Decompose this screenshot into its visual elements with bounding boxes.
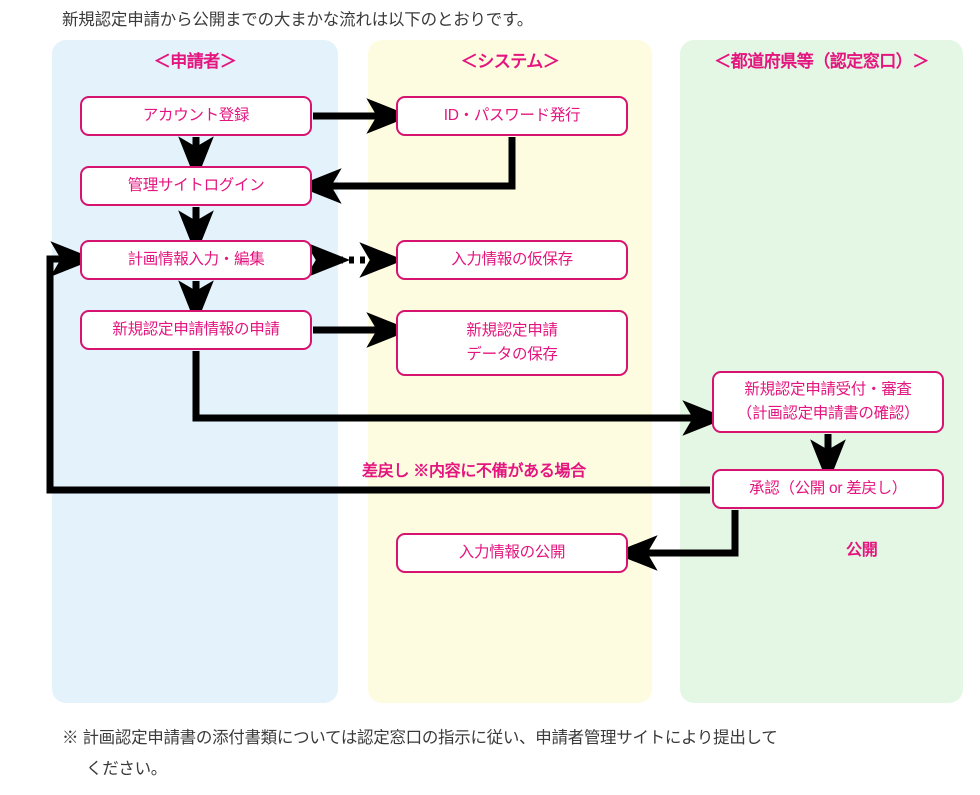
node-label-line2: データの保存	[466, 343, 557, 367]
node-approval[interactable]: 承認（公開 or 差戻し）	[712, 469, 944, 509]
node-application-review[interactable]: 新規認定申請受付・審査 （計画認定申請書の確認）	[712, 371, 944, 433]
node-new-application-submit[interactable]: 新規認定申請情報の申請	[80, 310, 312, 350]
node-label: ID・パスワード発行	[444, 104, 581, 128]
swimlane-title-system: ＜システム＞	[368, 47, 652, 72]
node-label: 新規認定申請情報の申請	[112, 318, 279, 342]
footnote: ※ 計画認定申請書の添付書類については認定窓口の指示に従い、申請者管理サイトによ…	[62, 723, 962, 784]
flow-label-publish: 公開	[846, 536, 877, 560]
node-management-site-login[interactable]: 管理サイトログイン	[80, 166, 312, 206]
node-new-application-data-save[interactable]: 新規認定申請 データの保存	[396, 310, 628, 376]
footnote-line-2: ください。	[62, 754, 962, 785]
node-label: 計画情報入力・編集	[128, 248, 265, 272]
swimlane-title-prefecture: ＜都道府県等（認定窓口）＞	[680, 47, 963, 72]
node-input-info-publish[interactable]: 入力情報の公開	[396, 533, 628, 573]
node-label-line1: 新規認定申請	[466, 319, 557, 343]
node-label-line1: 新規認定申請受付・審査	[744, 378, 911, 402]
node-label: 承認（公開 or 差戻し）	[749, 477, 907, 501]
swimlane-applicant	[52, 40, 338, 703]
node-label: 入力情報の公開	[459, 541, 565, 565]
node-label: アカウント登録	[143, 104, 249, 128]
node-id-password-issue[interactable]: ID・パスワード発行	[396, 96, 628, 136]
node-label: 入力情報の仮保存	[451, 248, 573, 272]
flow-label-send-back: 差戻し ※内容に不備がある場合	[362, 457, 586, 481]
node-input-info-temp-save[interactable]: 入力情報の仮保存	[396, 240, 628, 280]
node-plan-info-input-edit[interactable]: 計画情報入力・編集	[80, 240, 312, 280]
node-label: 管理サイトログイン	[128, 174, 265, 198]
node-account-registration[interactable]: アカウント登録	[80, 96, 312, 136]
node-label-line2: （計画認定申請書の確認）	[737, 402, 919, 426]
flow-diagram: ＜申請者＞ ＜システム＞ ＜都道府県等（認定窓口）＞	[0, 0, 980, 795]
swimlane-title-applicant: ＜申請者＞	[52, 47, 338, 72]
footnote-line-1: ※ 計画認定申請書の添付書類については認定窓口の指示に従い、申請者管理サイトによ…	[62, 723, 962, 754]
